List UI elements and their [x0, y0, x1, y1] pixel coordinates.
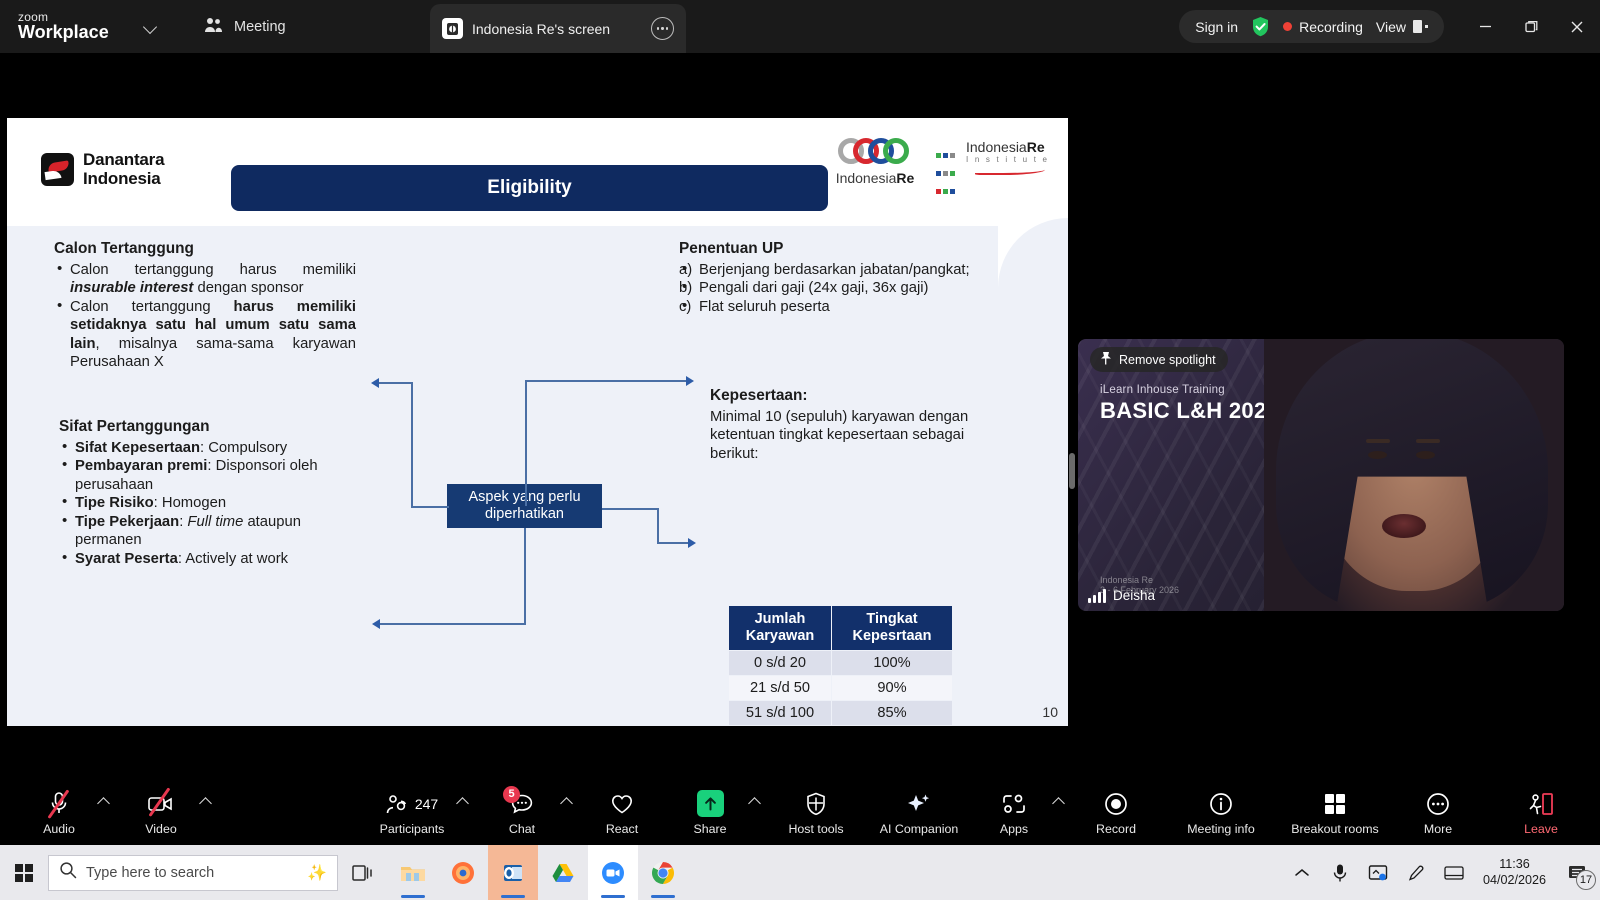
- tray-expand-caret-icon[interactable]: [1283, 845, 1321, 900]
- block-kepesertaan: Kepesertaan: Minimal 10 (sepuluh) karyaw…: [710, 387, 995, 463]
- table-row: 51 s/d 10085%: [729, 701, 953, 726]
- toolbar-button-participants[interactable]: 247 Participants: [369, 790, 455, 836]
- toolbar-button-react[interactable]: React: [585, 790, 659, 836]
- table-cell: 85%: [832, 701, 953, 726]
- taskbar-file-explorer[interactable]: [388, 845, 438, 900]
- calon-heading: Calon Tertanggung: [54, 240, 356, 259]
- table-header-row: JumlahKaryawan TingkatKepesrtaan: [729, 606, 953, 651]
- workplace-wordmark: Workplace: [18, 23, 128, 42]
- system-tray: 11:36 04/02/2026 17: [1283, 845, 1600, 900]
- toolbar-button-host-tools[interactable]: Host tools: [771, 790, 861, 836]
- penentuan-heading: Penentuan UP: [679, 240, 1009, 259]
- page-title: Eligibility: [487, 177, 571, 199]
- running-indicator: [651, 895, 675, 898]
- toolbar-label: Video: [145, 822, 176, 836]
- toolbar-label: Breakout rooms: [1291, 822, 1378, 836]
- connector-arrow: [688, 538, 696, 548]
- leave-icon: [1528, 790, 1554, 818]
- kepesertaan-body: Minimal 10 (sepuluh) karyawan dengan ket…: [710, 408, 995, 464]
- list-item: b)Pengali dari gaji (24x gaji, 36x gaji): [679, 279, 1009, 298]
- taskbar-clock[interactable]: 11:36 04/02/2026: [1473, 857, 1556, 888]
- toolbar-label: Participants: [380, 822, 445, 836]
- taskbar-firefox[interactable]: [438, 845, 488, 900]
- toolbar-label: Apps: [1000, 822, 1028, 836]
- indonesia-re-logo: IndonesiaRe: [829, 138, 921, 186]
- start-button[interactable]: [0, 845, 48, 900]
- tab-meeting[interactable]: Meeting: [192, 9, 298, 45]
- connector-arrow: [686, 376, 694, 386]
- participants-count: 247: [415, 796, 438, 812]
- connector-arrow: [371, 378, 379, 388]
- clock-time: 11:36: [1483, 857, 1546, 873]
- record-icon: [1104, 790, 1128, 818]
- meeting-stage: Danantara Indonesia Eligibility Indonesi…: [0, 53, 1600, 780]
- view-layout-icon: [1413, 20, 1428, 33]
- tab-screen-label: Indonesia Re's screen: [472, 21, 642, 37]
- breakout-rooms-icon: [1323, 790, 1347, 818]
- toolbar-label: Record: [1096, 822, 1136, 836]
- institute-wordmark: IndonesiaRe I n s t i t u t e: [966, 140, 1049, 164]
- toolbar-button-meeting-info[interactable]: Meeting info: [1169, 790, 1273, 836]
- heart-icon: [610, 790, 634, 818]
- participant-video-image: [1264, 339, 1564, 611]
- toolbar-label: Leave: [1524, 822, 1558, 836]
- list-item: c)Flat seluruh peserta: [679, 298, 1009, 317]
- sparkle-icon: [906, 790, 932, 818]
- table-cell: 80%: [832, 726, 953, 727]
- participant-mouth: [1382, 514, 1426, 538]
- share-screen-icon: [697, 790, 724, 818]
- block-calon-tertanggung: Calon Tertanggung Calon tertanggung haru…: [54, 240, 356, 372]
- connector-line: [657, 542, 689, 544]
- block-sifat-pertanggungan: Sifat Pertanggungan Sifat Kepesertaan: C…: [59, 418, 359, 568]
- list-item: Calon tertanggung harus memiliki insurab…: [54, 261, 356, 298]
- recording-indicator[interactable]: Recording: [1283, 19, 1363, 35]
- participants-icon: 247: [386, 790, 438, 818]
- toolbar-label: Audio: [43, 822, 75, 836]
- table-header-cell: TingkatKepesrtaan: [832, 606, 953, 651]
- toolbar-button-leave[interactable]: Leave: [1504, 790, 1578, 836]
- task-view-button[interactable]: [338, 845, 388, 900]
- view-menu-button[interactable]: View: [1376, 19, 1428, 35]
- list-item: a)Berjenjang berdasarkan jabatan/pangkat…: [679, 261, 1009, 280]
- list-item: Tipe Pekerjaan: Full time ataupun perman…: [59, 513, 359, 550]
- video-slide-title: BASIC L&H 2026: [1100, 398, 1279, 424]
- participant-name: Deisha: [1113, 588, 1155, 603]
- taskbar-zoom[interactable]: [588, 845, 638, 900]
- tray-touchpad-icon[interactable]: [1435, 845, 1473, 900]
- chat-icon: 5: [510, 790, 534, 818]
- list-item: Sifat Kepesertaan: Compulsory: [59, 439, 359, 458]
- connector-line: [525, 380, 687, 382]
- chevron-down-icon[interactable]: [140, 16, 162, 38]
- close-button[interactable]: [1554, 0, 1600, 53]
- running-indicator: [601, 895, 625, 898]
- running-indicator: [401, 895, 425, 898]
- video-tile-deisha[interactable]: IndonesiaRe iLearn Inhouse Training BASI…: [1078, 339, 1564, 611]
- danantara-mark-icon: [41, 153, 74, 186]
- table-header-cell: JumlahKaryawan: [729, 606, 832, 651]
- shield-icon: [805, 790, 827, 818]
- connector-line: [411, 382, 413, 507]
- list-item: Pembayaran premi: Disponsori oleh perusa…: [59, 457, 359, 494]
- table-row: 101 s/d 20080%: [729, 726, 953, 727]
- remove-spotlight-label: Remove spotlight: [1119, 353, 1216, 367]
- toolbar-button-breakout-rooms[interactable]: Breakout rooms: [1275, 790, 1395, 836]
- minimize-button[interactable]: [1462, 0, 1508, 53]
- kepesertaan-table: JumlahKaryawan TingkatKepesrtaan 0 s/d 2…: [728, 605, 953, 726]
- apps-caret-icon[interactable]: [1051, 790, 1067, 814]
- toolbar-button-more[interactable]: More: [1401, 790, 1475, 836]
- table-row: 21 s/d 5090%: [729, 676, 953, 701]
- remove-spotlight-button[interactable]: Remove spotlight: [1090, 347, 1228, 372]
- video-slide-kicker: iLearn Inhouse Training: [1100, 384, 1279, 396]
- toolbar-label: Chat: [509, 822, 535, 836]
- running-indicator: [501, 895, 525, 898]
- titlebar-right-group: Sign in Recording View: [1179, 0, 1600, 53]
- connector-line: [380, 623, 526, 625]
- presentation-slide: Danantara Indonesia Eligibility Indonesi…: [7, 118, 1068, 726]
- sifat-heading: Sifat Pertanggungan: [59, 418, 359, 437]
- participant-eye: [1416, 451, 1435, 459]
- view-label: View: [1376, 19, 1406, 35]
- connector-line: [525, 380, 527, 506]
- list-item: Calon tertanggung harus memiliki setidak…: [54, 298, 356, 372]
- block-penentuan-up: Penentuan UP a)Berjenjang berdasarkan ja…: [679, 240, 1009, 316]
- notification-count: 17: [1576, 870, 1596, 890]
- participant-brow: [1416, 439, 1440, 443]
- shield-check-icon[interactable]: [1251, 16, 1270, 37]
- indonesia-re-wordmark: IndonesiaRe: [829, 170, 921, 186]
- video-panel-drag-handle[interactable]: [1069, 453, 1075, 489]
- windows-logo-icon: [15, 864, 33, 882]
- share-caret-icon[interactable]: [747, 790, 763, 814]
- table-cell: 0 s/d 20: [729, 651, 832, 676]
- table-row: 0 s/d 20100%: [729, 651, 953, 676]
- shared-screen-area: Danantara Indonesia Eligibility Indonesi…: [7, 91, 1068, 753]
- screen-share-icon: [442, 18, 463, 39]
- search-input[interactable]: Type here to search ✨: [48, 855, 338, 891]
- zoom-workplace-logo: zoom Workplace: [18, 11, 128, 42]
- participants-caret-icon[interactable]: [455, 790, 471, 814]
- toolbar-label: AI Companion: [880, 822, 959, 836]
- connector-line: [524, 528, 526, 625]
- apps-icon: [1001, 790, 1027, 818]
- participant-eye: [1368, 451, 1387, 459]
- copilot-sparkle-icon[interactable]: ✨: [307, 863, 327, 883]
- audio-options-caret-icon[interactable]: [96, 790, 112, 814]
- table-cell: 100%: [832, 651, 953, 676]
- tab-indonesia-re-screen[interactable]: Indonesia Re's screen: [430, 4, 686, 53]
- camera-muted-icon: [147, 790, 175, 818]
- toolbar-label: More: [1424, 822, 1452, 836]
- danantara-wordmark: Danantara Indonesia: [83, 150, 164, 188]
- toolbar-button-audio[interactable]: Audio: [22, 790, 96, 836]
- danantara-logo: Danantara Indonesia: [41, 150, 164, 188]
- zoom-title-bar: zoom Workplace Meeting Indonesia Re's sc…: [0, 0, 1600, 53]
- table-cell: 101 s/d 200: [729, 726, 832, 727]
- institute-dots-icon: [935, 146, 962, 200]
- notification-center-button[interactable]: 17: [1556, 845, 1600, 900]
- participants-group-icon: [204, 17, 224, 37]
- toolbar-button-record[interactable]: Record: [1079, 790, 1153, 836]
- video-options-caret-icon[interactable]: [198, 790, 214, 814]
- search-placeholder: Type here to search: [86, 865, 298, 881]
- toolbar-label: Host tools: [788, 822, 843, 836]
- meeting-toolbar: Audio Video 247 Participants 5 Chat Reac…: [0, 780, 1600, 845]
- table-cell: 90%: [832, 676, 953, 701]
- taskbar-outlook[interactable]: [488, 845, 538, 900]
- connector-line: [379, 382, 413, 384]
- info-icon: [1209, 790, 1233, 818]
- connector-line: [657, 508, 659, 543]
- tab-meeting-label: Meeting: [234, 19, 286, 35]
- tray-microphone-icon[interactable]: [1321, 845, 1359, 900]
- indonesia-re-rings-icon: [829, 138, 921, 167]
- connector-line: [602, 508, 658, 510]
- list-item: Syarat Peserta: Actively at work: [59, 550, 359, 569]
- taskbar-google-drive[interactable]: [538, 845, 588, 900]
- slide-title-banner: Eligibility: [231, 165, 828, 211]
- connector-line: [411, 506, 449, 508]
- slide-page-number: 10: [1042, 704, 1058, 720]
- video-slide-overlay: iLearn Inhouse Training BASIC L&H 2026: [1100, 384, 1279, 424]
- toolbar-label: Share: [693, 822, 726, 836]
- chat-badge: 5: [503, 786, 520, 803]
- spotlight-pin-icon: [1099, 351, 1112, 369]
- list-item: Tipe Risiko: Homogen: [59, 494, 359, 513]
- toolbar-button-chat[interactable]: 5 Chat: [485, 790, 559, 836]
- chat-caret-icon[interactable]: [559, 790, 575, 814]
- toolbar-button-apps[interactable]: Apps: [977, 790, 1051, 836]
- kepesertaan-heading: Kepesertaan:: [710, 387, 995, 406]
- microphone-muted-icon: [48, 790, 70, 818]
- toolbar-button-ai-companion[interactable]: AI Companion: [863, 790, 975, 836]
- recording-label: Recording: [1299, 19, 1363, 35]
- search-icon: [59, 861, 77, 884]
- table-cell: 21 s/d 50: [729, 676, 832, 701]
- tray-pen-icon[interactable]: [1397, 845, 1435, 900]
- tray-onedrive-sync-icon[interactable]: [1359, 845, 1397, 900]
- more-dots-icon: [1426, 790, 1450, 818]
- toolbar-button-share[interactable]: Share: [673, 790, 747, 836]
- table-cell: 51 s/d 100: [729, 701, 832, 726]
- toolbar-label: React: [606, 822, 638, 836]
- toolbar-button-video[interactable]: Video: [124, 790, 198, 836]
- more-dots-icon[interactable]: [651, 17, 674, 40]
- titlebar-status-pill: Sign in Recording View: [1179, 10, 1444, 43]
- audio-level-icon: [1088, 588, 1106, 603]
- recording-dot-icon: [1283, 22, 1292, 31]
- maximize-restore-button[interactable]: [1508, 0, 1554, 53]
- connector-arrow: [372, 619, 380, 629]
- sign-in-button[interactable]: Sign in: [1195, 19, 1238, 35]
- clock-date: 04/02/2026: [1483, 873, 1546, 889]
- participant-name-bar: Deisha: [1088, 588, 1155, 603]
- taskbar-chrome[interactable]: [638, 845, 688, 900]
- participant-brow: [1366, 439, 1390, 443]
- toolbar-label: Meeting info: [1187, 822, 1255, 836]
